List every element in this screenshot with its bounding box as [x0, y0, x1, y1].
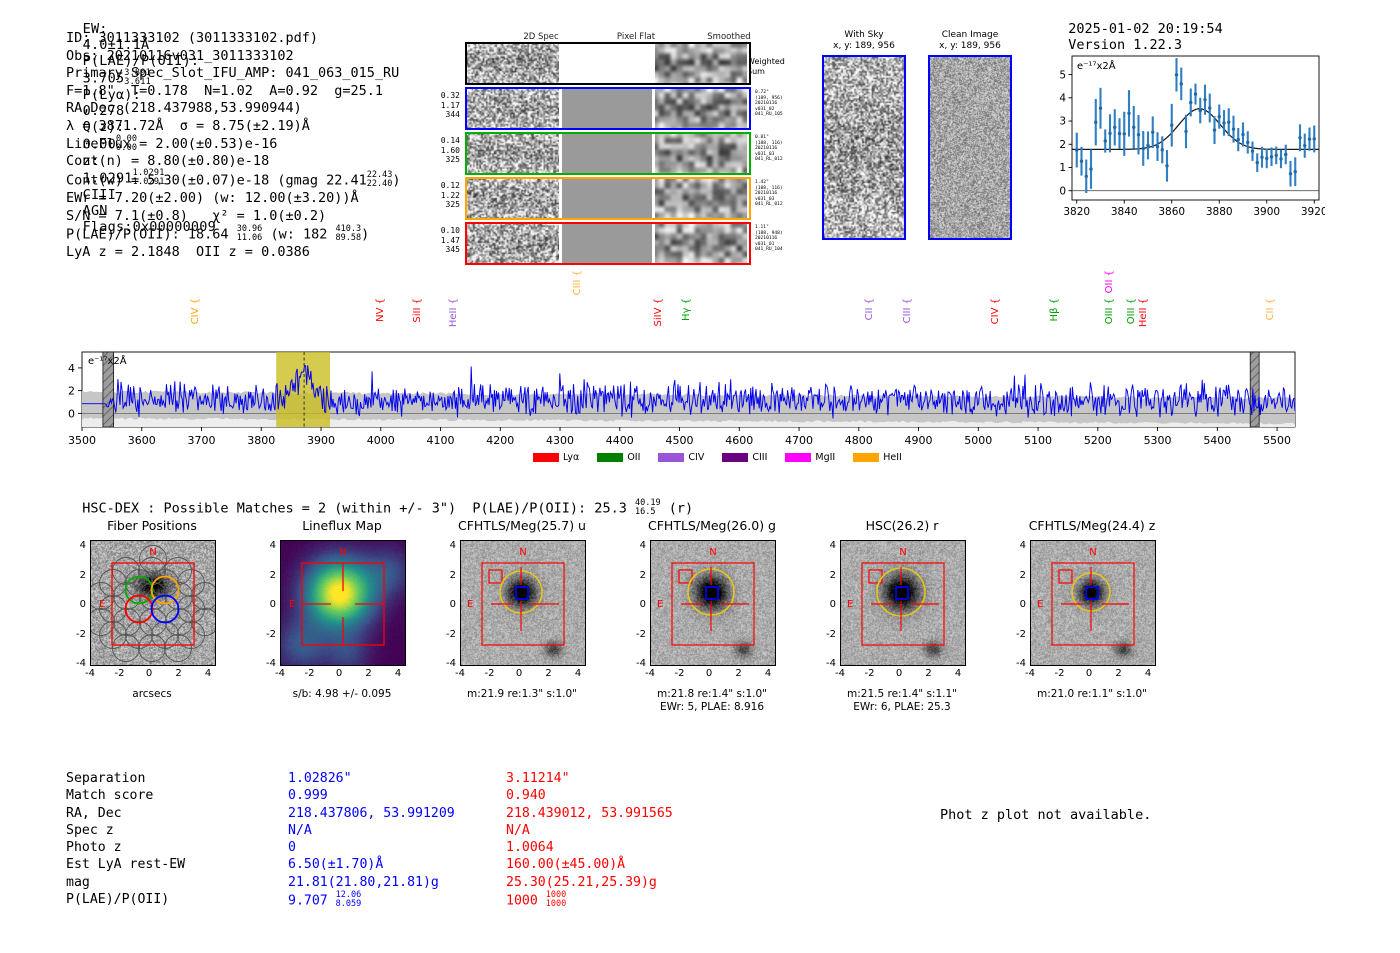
match1-value: 9.707 12.068.059	[288, 891, 361, 910]
spectrum-xtick-label: 3600	[128, 434, 156, 447]
spectrum-xtick-label: 3800	[247, 434, 275, 447]
cutout-ytick-label: 0	[1002, 599, 1026, 610]
cutout-xtick-label: -4	[80, 668, 100, 679]
linefit-datapoint	[1265, 157, 1268, 160]
cutout-caption-line1: m:21.0 re:1.1" s:1.0"	[1002, 688, 1182, 701]
fiber-overlay: NE	[91, 541, 215, 665]
legend-item: CIII	[722, 452, 767, 463]
linefit-datapoint	[1213, 128, 1216, 131]
linefit-datapoint	[1137, 133, 1140, 136]
table-row-label: Match score	[66, 787, 153, 804]
image-cutout-overlay: NE	[461, 541, 585, 665]
spectrum-ytick-label: 0	[68, 407, 75, 420]
spec2d-row-metric: 1.60	[424, 146, 460, 156]
spectrum-line-label: CII {	[864, 298, 875, 320]
legend-item: HeII	[853, 452, 902, 463]
match2-value: 160.00(±45.00)Å	[506, 856, 625, 873]
cutout-panel-image: NE	[460, 540, 586, 666]
cutout-xtick-label: 4	[198, 668, 218, 679]
cutout-caption-line2: EWr: 5, PLAE: 8.916	[622, 701, 802, 714]
linefit-datapoint	[1246, 141, 1249, 144]
spectrum-xtick-label: 4100	[427, 434, 455, 447]
spec2d-cell-2dspec	[467, 179, 559, 218]
spectrum-line-label: NV {	[375, 298, 386, 322]
spec2d-row	[465, 222, 751, 265]
legend-swatch	[533, 453, 559, 462]
linefit-datapoint	[1303, 144, 1306, 147]
legend-swatch	[658, 453, 684, 462]
linefit-ytick-label: 4	[1059, 93, 1066, 105]
spec2d-row-left-labels: 0.141.60325	[424, 136, 460, 165]
spec2d-row-metric: 0.12	[424, 181, 460, 191]
spectrum-xtick-label: 5500	[1263, 434, 1291, 447]
cutout-panel: HSC(26.2) rNE-4-4-2-2002244m:21.5 re:1.4…	[812, 518, 992, 723]
spec2d-cell-pixelflat	[562, 134, 652, 173]
legend-swatch	[853, 453, 879, 462]
spec2d-row-right-labels: 0.81"(188, 116)20210116v031_03041_RL_012	[755, 135, 813, 163]
spec2d-row-right-labels: 1.42"(188, 116)20210116v031_03041_RL_012	[755, 180, 813, 208]
spectrum-xtick-label: 4000	[367, 434, 395, 447]
linefit-datapoint	[1251, 150, 1254, 153]
header-timestamp-block: 2025-01-02 20:19:54 Version 1.22.3	[1052, 5, 1231, 53]
linefit-datapoint	[1094, 120, 1097, 123]
legend-item: Lyα	[533, 452, 579, 463]
info-continuum-narrow: Cont(n) = 8.80(±0.80)e-18	[66, 153, 400, 171]
linefit-datapoint	[1294, 170, 1297, 173]
cutout-caption-line1: s/b: 4.98 +/- 0.095	[252, 688, 432, 701]
spec2d-row-metric: 325	[424, 155, 460, 165]
svg-text:N: N	[339, 547, 346, 558]
match1-value: 0.999	[288, 787, 328, 804]
spec2d-weighted-sum-label: Weighted Sum	[747, 57, 785, 76]
linefit-xtick-label: 3880	[1206, 206, 1233, 218]
match1-value: 218.437806, 53.991209	[288, 805, 455, 822]
cutout-panel-caption: s/b: 4.98 +/- 0.095	[252, 688, 432, 701]
linefit-datapoint	[1218, 115, 1221, 118]
spec2d-row-meta: 041_RL_012	[755, 202, 813, 208]
spec2d-row-metric: 0.32	[424, 91, 460, 101]
image-cutout-overlay: NE	[651, 541, 775, 665]
linefit-ytick-label: 1	[1059, 162, 1066, 174]
spec2d-cell-2dspec	[467, 224, 559, 263]
linefit-datapoint	[1123, 132, 1126, 135]
linefit-datapoint	[1180, 82, 1183, 85]
spec2d-row-left-labels: 0.121.22325	[424, 181, 460, 210]
cutout-xtick-label: 2	[729, 668, 749, 679]
emission-line-fit-plot: 382038403860388039003920012345e⁻¹⁷x2Å	[1040, 48, 1325, 226]
cutout-ytick-label: 4	[62, 540, 86, 551]
table-row-label: Photo z	[66, 839, 122, 856]
match1-value: 1.02826"	[288, 770, 352, 787]
cutout-xtick-label: -4	[270, 668, 290, 679]
linefit-datapoint	[1142, 147, 1145, 150]
cutout-xtick-label: 0	[329, 668, 349, 679]
spectrum-xtick-label: 4700	[785, 434, 813, 447]
cutout-ytick-label: -2	[62, 629, 86, 640]
match2-value: 1.0064	[506, 839, 554, 856]
linefit-datapoint	[1208, 106, 1211, 109]
cutout-xtick-label: -2	[670, 668, 690, 679]
cutout-xtick-label: -4	[640, 668, 660, 679]
cutout-panel-title: Fiber Positions	[62, 518, 242, 533]
cutout-xtick-label: 2	[359, 668, 379, 679]
cutout-xtick-label: 2	[539, 668, 559, 679]
spectrum-line-label: OIII {	[1104, 298, 1115, 324]
cutout-ytick-label: 2	[812, 570, 836, 581]
spec2d-cell-2dspec	[467, 44, 559, 83]
cutout-ytick-label: 4	[1002, 540, 1026, 551]
cutout-panel-caption: arcsecs	[62, 688, 242, 701]
spectrum-xtick-label: 4200	[486, 434, 514, 447]
linefit-datapoint	[1099, 107, 1102, 110]
cutout-xtick-label: 4	[948, 668, 968, 679]
cutout-ytick-label: 0	[812, 599, 836, 610]
spec2d-cell-smoothed	[655, 179, 747, 218]
linefit-xtick-label: 3820	[1063, 206, 1090, 218]
linefit-datapoint	[1146, 144, 1149, 147]
spectrum-line-label: OIII {	[1126, 298, 1137, 324]
header-timestamp: 2025-01-02 20:19:54	[1068, 21, 1222, 37]
spec2d-row	[465, 42, 751, 85]
spectrum-line-label: HeII {	[448, 298, 459, 327]
cutout-xtick-label: 2	[169, 668, 189, 679]
linefit-datapoint	[1308, 137, 1311, 140]
cutout-xtick-label: 0	[509, 668, 529, 679]
spec2d-cell-2dspec	[467, 134, 559, 173]
match2-value: N/A	[506, 822, 530, 839]
legend-swatch	[785, 453, 811, 462]
linefit-datapoint	[1165, 164, 1168, 167]
spectrum-xtick-label: 4600	[725, 434, 753, 447]
spectrum-xtick-label: 5300	[1144, 434, 1172, 447]
match1-value: 21.81(21.80,21.81)g	[288, 874, 439, 891]
spec2d-cell-pixelflat	[562, 224, 652, 263]
linefit-datapoint	[1203, 98, 1206, 101]
spec2d-cell-pixelflat	[562, 89, 652, 128]
svg-text:E: E	[289, 599, 295, 610]
cutout-xtick-label: -4	[1020, 668, 1040, 679]
linefit-datapoint	[1104, 139, 1107, 142]
cutout-ytick-label: -2	[812, 629, 836, 640]
info-signal-noise: S/N = 7.1(±0.8) χ² = 1.0(±0.2)	[66, 208, 400, 226]
spec2d-row-meta: 041_RL_012	[755, 157, 813, 163]
spec2d-row-metric: 1.22	[424, 191, 460, 201]
cutout-panel-title: CFHTLS/Meg(25.7) u	[432, 518, 612, 533]
spec2d-cell-smoothed	[655, 134, 747, 173]
cutout-ytick-label: 0	[432, 599, 456, 610]
spec2d-row	[465, 177, 751, 220]
linefit-datapoint	[1270, 155, 1273, 158]
cutout-xtick-label: 4	[388, 668, 408, 679]
cutout-ytick-label: -2	[1002, 629, 1026, 640]
cutout-panel: Fiber PositionsNE-4-4-2-2002244arcsecs	[62, 518, 242, 723]
cutout-xtick-label: 0	[699, 668, 719, 679]
linefit-datapoint	[1227, 120, 1230, 123]
svg-text:E: E	[657, 599, 663, 610]
cutout-caption-line1: m:21.5 re:1.4" s:1.1"	[812, 688, 992, 701]
linefit-datapoint	[1184, 130, 1187, 133]
linefit-datapoint	[1289, 172, 1292, 175]
linefit-ytick-label: 5	[1059, 69, 1066, 81]
linefit-xtick-label: 3860	[1158, 206, 1185, 218]
spec2d-cell-pixelflat	[562, 44, 652, 83]
legend-swatch	[722, 453, 748, 462]
spec2d-col-2dspec: 2D Spec	[495, 32, 587, 42]
cutout-xtick-label: -2	[1050, 668, 1070, 679]
spectrum-xtick-label: 3700	[188, 434, 216, 447]
cutout-panel-image: NE	[280, 540, 406, 666]
emission-line-fit-svg: 382038403860388039003920012345e⁻¹⁷x2Å	[1040, 48, 1325, 226]
linefit-datapoint	[1284, 153, 1287, 156]
cutout-ytick-label: 2	[252, 570, 276, 581]
linefit-flux-units-annotation: e⁻¹⁷x2Å	[1077, 59, 1116, 72]
spec2d-row-meta: 041_RU_105	[755, 112, 813, 118]
cutout-xtick-label: -4	[450, 668, 470, 679]
cutout-ytick-label: 4	[812, 540, 836, 551]
cutout-xtick-label: 4	[758, 668, 778, 679]
cutout-xtick-label: 2	[919, 668, 939, 679]
spec2d-cell-smoothed	[655, 44, 747, 83]
table-row-label: Spec z	[66, 822, 114, 839]
linefit-datapoint	[1237, 138, 1240, 141]
svg-text:E: E	[1037, 599, 1043, 610]
lineflux-overlay: NE	[281, 541, 405, 665]
cutout-xtick-label: -4	[830, 668, 850, 679]
small-cutout-coords: x, y: 189, 956	[822, 41, 906, 52]
match2-value: 0.940	[506, 787, 546, 804]
match2-value: 218.439012, 53.991565	[506, 805, 673, 822]
linefit-datapoint	[1085, 175, 1088, 178]
linefit-datapoint	[1298, 136, 1301, 139]
spectrum-xtick-label: 5000	[964, 434, 992, 447]
spectrum-line-label: SiIV {	[653, 298, 664, 326]
spec2d-row-right-labels: 0.72"(189, 956)20210116v031_02041_RU_105	[755, 90, 813, 118]
cutout-panel: CFHTLS/Meg(26.0) gNE-4-4-2-2002244m:21.8…	[622, 518, 802, 723]
info-radec: RA,Dec (218.437988,53.990944)	[66, 100, 400, 118]
spectrum-xtick-label: 4400	[606, 434, 634, 447]
linefit-datapoint	[1256, 161, 1259, 164]
legend-item: OII	[597, 452, 640, 463]
image-cutout-overlay: NE	[841, 541, 965, 665]
cutout-xtick-label: -2	[300, 668, 320, 679]
svg-text:N: N	[149, 547, 156, 558]
spectrum-line-label: CIII {	[572, 270, 583, 295]
cutout-caption-line1: arcsecs	[62, 688, 242, 701]
linefit-ytick-label: 0	[1059, 185, 1066, 197]
spectrum-ytick-label: 4	[68, 362, 75, 375]
spec2d-row-metric: 344	[424, 110, 460, 120]
cutout-panel-title: CFHTLS/Meg(24.4) z	[1002, 518, 1182, 533]
spec2d-row-meta: 041_RU_104	[755, 247, 813, 253]
cutout-ytick-label: -2	[432, 629, 456, 640]
spectrum-xtick-label: 3500	[68, 434, 96, 447]
cutout-ytick-label: 4	[252, 540, 276, 551]
cutout-panel-caption: m:21.8 re:1.4" s:1.0"EWr: 5, PLAE: 8.916	[622, 688, 802, 714]
legend-item: MgII	[785, 452, 835, 463]
match1-value: 0	[288, 839, 296, 856]
info-plae-poii: P(LAE)/P(OII): 18.64 30.9611.06 (w: 182 …	[66, 225, 400, 244]
linefit-datapoint	[1156, 145, 1159, 148]
cutout-ytick-label: 2	[62, 570, 86, 581]
linefit-datapoint	[1151, 130, 1154, 133]
cutout-xtick-label: -2	[480, 668, 500, 679]
match2-value: 1000 10001000	[506, 891, 566, 910]
match2-value: 3.11214"	[506, 770, 570, 787]
spectrum-highlight-band	[276, 352, 330, 427]
cutout-panel-caption: m:21.5 re:1.4" s:1.1"EWr: 6, PLAE: 25.3	[812, 688, 992, 714]
legend-item: CIV	[658, 452, 704, 463]
cutout-xtick-label: 0	[889, 668, 909, 679]
linefit-ytick-label: 3	[1059, 116, 1066, 128]
hsc-dex-summary: HSC-DEX : Possible Matches = 2 (within +…	[66, 483, 693, 517]
spectrum-xtick-label: 5400	[1203, 434, 1231, 447]
legend-label: CIV	[688, 452, 704, 463]
cutout-ytick-label: 2	[1002, 570, 1026, 581]
legend-label: HeII	[883, 452, 902, 463]
cutout-caption-line1: m:21.9 re:1.3" s:1.0"	[432, 688, 612, 701]
hsc-band: (r)	[669, 501, 693, 517]
svg-text:N: N	[519, 547, 526, 558]
cutout-ytick-label: 4	[432, 540, 456, 551]
spectrum-line-label: OII {	[1104, 270, 1115, 293]
linefit-datapoint	[1127, 112, 1130, 115]
cutout-ytick-label: 2	[622, 570, 646, 581]
match2-value: 25.30(25.21,25.39)g	[506, 874, 657, 891]
linefit-datapoint	[1132, 126, 1135, 129]
cutout-ytick-label: -2	[622, 629, 646, 640]
spectrum-masked-band	[1250, 352, 1259, 427]
linefit-datapoint	[1189, 101, 1192, 104]
svg-text:N: N	[709, 547, 716, 558]
spectrum-ytick-label: 2	[68, 385, 75, 398]
linefit-datapoint	[1232, 127, 1235, 130]
linefit-datapoint	[1313, 137, 1316, 140]
legend-label: CIII	[752, 452, 767, 463]
full-spectrum-svg: 0243500360037003800390040004100420043004…	[82, 352, 1295, 457]
spec2d-row	[465, 132, 751, 175]
info-continuum-wide: Cont(w) = 5.30(±0.07)e-18 (gmag 22.4122.…	[66, 171, 400, 190]
info-ewr: EWr = 7.20(±2.00) (w: 12.00(±3.20))Å	[66, 190, 400, 208]
svg-text:N: N	[1089, 547, 1096, 558]
cutout-ytick-label: 0	[252, 599, 276, 610]
spectrum-line-label: Hγ {	[681, 298, 692, 321]
spec2d-cell-2dspec	[467, 89, 559, 128]
linefit-datapoint	[1108, 132, 1111, 135]
table-row-label: P(LAE)/P(OII)	[66, 891, 169, 908]
spectrum-xtick-label: 3900	[307, 434, 335, 447]
legend-label: MgII	[815, 452, 835, 463]
full-spectrum-plot: 0243500360037003800390040004100420043004…	[82, 352, 1295, 427]
cutout-caption-line2: EWr: 6, PLAE: 25.3	[812, 701, 992, 714]
cutout-panel-caption: m:21.0 re:1.1" s:1.0"	[1002, 688, 1182, 701]
photz-note: Phot z plot not available.	[940, 807, 1151, 823]
legend-swatch	[597, 453, 623, 462]
info-redshifts: LyA z = 2.1848 OII z = 0.0386	[66, 244, 400, 262]
info-id: ID: 3011333102 (3011333102.pdf)	[66, 30, 400, 48]
hsc-plae-bounds: 40.1916.5	[635, 499, 661, 517]
spec2d-row-metric: 1.17	[424, 101, 460, 111]
spectrum-xtick-label: 5100	[1024, 434, 1052, 447]
spec2d-row-metric: 0.14	[424, 136, 460, 146]
linefit-datapoint	[1075, 148, 1078, 151]
table-row-label: RA, Dec	[66, 805, 122, 822]
cutout-panel-image: NE	[90, 540, 216, 666]
cutout-xtick-label: -2	[860, 668, 880, 679]
spectrum-line-label: SiII {	[412, 298, 423, 323]
small-cutout-image	[822, 55, 906, 240]
cutout-panel: CFHTLS/Meg(25.7) uNE-4-4-2-2002244m:21.9…	[432, 518, 612, 723]
spec2d-cell-smoothed	[655, 89, 747, 128]
legend-label: OII	[627, 452, 640, 463]
cutout-panel-image: NE	[1030, 540, 1156, 666]
spectrum-line-label: HeII {	[1138, 298, 1149, 327]
cutout-ytick-label: 0	[622, 599, 646, 610]
linefit-datapoint	[1113, 126, 1116, 129]
cutout-xtick-label: 0	[139, 668, 159, 679]
small-cutout-coords: x, y: 189, 956	[928, 41, 1012, 52]
linefit-datapoint	[1241, 133, 1244, 136]
info-spec-slot: Primary Spec_Slot_IFU_AMP: 041_063_015_R…	[66, 65, 400, 83]
cutout-panel-caption: m:21.9 re:1.3" s:1.0"	[432, 688, 612, 701]
linefit-datapoint	[1275, 154, 1278, 157]
image-cutout-overlay: NE	[1031, 541, 1155, 665]
cutout-panel-title: CFHTLS/Meg(26.0) g	[622, 518, 802, 533]
cutout-panel-image: NE	[840, 540, 966, 666]
cutout-panel-image: NE	[650, 540, 776, 666]
match1-value: N/A	[288, 822, 312, 839]
linefit-datapoint	[1222, 121, 1225, 124]
linefit-xtick-label: 3900	[1253, 206, 1280, 218]
spectrum-legend: LyαOIICIVCIIIMgIIHeII	[533, 452, 920, 463]
spectrum-xtick-label: 5200	[1084, 434, 1112, 447]
small-cutout-title: With Sky	[822, 30, 906, 41]
spec2d-row-metric: 325	[424, 200, 460, 210]
spectrum-line-label: CIV {	[990, 298, 1001, 324]
svg-text:E: E	[99, 599, 105, 610]
info-lineflux: LineFlux = 2.00(±0.53)e-16	[66, 136, 400, 154]
small-cutout-caption: Clean Imagex, y: 189, 956	[928, 30, 1012, 52]
spec2d-col-smoothed: Smoothed	[683, 32, 775, 42]
spec2d-row	[465, 87, 751, 130]
cutout-xtick-label: 0	[1079, 668, 1099, 679]
spectrum-xtick-label: 4300	[546, 434, 574, 447]
spec2d-row-metric: 345	[424, 245, 460, 255]
linefit-datapoint	[1089, 167, 1092, 170]
cutout-ytick-label: 2	[432, 570, 456, 581]
cutout-ytick-label: 4	[622, 540, 646, 551]
spec2d-row-right-labels: 1.11"(188, 948)20210116v031_01041_RU_104	[755, 225, 813, 253]
spec2d-montage: 2D Spec Pixel Flat Smoothed Weighted Sum…	[425, 32, 785, 247]
linefit-datapoint	[1175, 73, 1178, 76]
cutout-panel-title: Lineflux Map	[252, 518, 432, 533]
cutout-ytick-label: 0	[62, 599, 86, 610]
spectrum-xtick-label: 4800	[845, 434, 873, 447]
cutout-ytick-label: -2	[252, 629, 276, 640]
cutout-xtick-label: 4	[568, 668, 588, 679]
cutout-panel: CFHTLS/Meg(24.4) zNE-4-4-2-2002244m:21.0…	[1002, 518, 1182, 723]
info-obs: Obs: 20210116v031_3011333102	[66, 48, 400, 66]
svg-text:E: E	[847, 599, 853, 610]
cutout-xtick-label: 4	[1138, 668, 1158, 679]
spec2d-row-left-labels: 0.321.17344	[424, 91, 460, 120]
table-row-label: Est LyA rest-EW	[66, 856, 185, 873]
spec2d-cell-smoothed	[655, 224, 747, 263]
cutout-xtick-label: -2	[110, 668, 130, 679]
linefit-datapoint	[1260, 156, 1263, 159]
spectrum-line-label: Hβ {	[1049, 298, 1060, 321]
spectrum-line-label: CIII {	[902, 298, 913, 323]
spectrum-line-label: CIV {	[190, 298, 201, 324]
